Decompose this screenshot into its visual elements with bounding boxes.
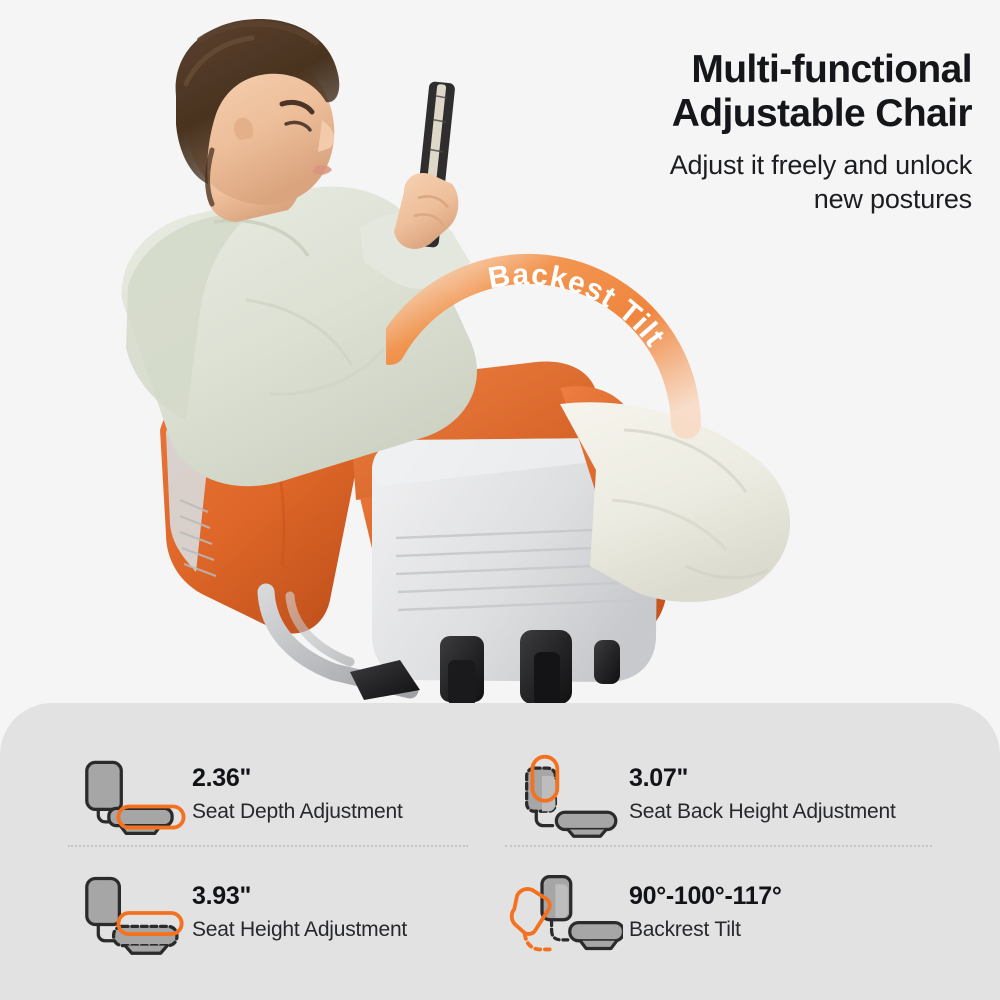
feature-spec-panel: 2.36" Seat Depth Adjustment <box>0 703 1000 1000</box>
seat-height-icon <box>68 865 188 961</box>
arc-label: Backest Tilt <box>486 258 672 353</box>
headline-line-2: Adjustable Chair <box>572 92 972 136</box>
product-feature-image: Backest Tilt Multi-functional Adjustable… <box>0 0 1000 1000</box>
feature-label: Seat Back Height Adjustment <box>629 798 896 825</box>
feature-text: 3.07" Seat Back Height Adjustment <box>625 764 896 825</box>
feature-grid: 2.36" Seat Depth Adjustment <box>0 703 1000 1000</box>
feature-seat-height: 3.93" Seat Height Adjustment <box>68 865 407 961</box>
feature-seat-depth: 2.36" Seat Depth Adjustment <box>68 747 403 843</box>
subtitle-line-2: new postures <box>572 183 972 217</box>
backrest-tilt-arc: Backest Tilt <box>386 232 716 562</box>
feature-value: 3.93" <box>192 882 407 911</box>
divider-right <box>505 845 932 847</box>
subtitle-block: Adjust it freely and unlock new postures <box>572 149 972 217</box>
feature-seat-back-height: 3.07" Seat Back Height Adjustment <box>505 747 896 843</box>
backrest-tilt-icon <box>505 865 625 961</box>
hero-photo-area: Backest Tilt Multi-functional Adjustable… <box>0 0 1000 720</box>
feature-backrest-tilt: 90°-100°-117° Backrest Tilt <box>505 865 782 961</box>
feature-text: 2.36" Seat Depth Adjustment <box>188 764 403 825</box>
headline-line-1: Multi-functional <box>572 48 972 92</box>
feature-value: 2.36" <box>192 764 403 793</box>
feature-text: 3.93" Seat Height Adjustment <box>188 882 407 943</box>
headline-block: Multi-functional Adjustable Chair Adjust… <box>572 48 972 217</box>
seat-depth-icon <box>68 747 188 843</box>
feature-value: 3.07" <box>629 764 896 793</box>
feature-label: Seat Depth Adjustment <box>192 798 403 825</box>
feature-text: 90°-100°-117° Backrest Tilt <box>625 882 782 943</box>
feature-label: Seat Height Adjustment <box>192 916 407 943</box>
feature-value: 90°-100°-117° <box>629 882 782 911</box>
divider-left <box>68 845 468 847</box>
seat-back-height-icon <box>505 747 625 843</box>
feature-label: Backrest Tilt <box>629 916 782 943</box>
subtitle-line-1: Adjust it freely and unlock <box>572 149 972 183</box>
